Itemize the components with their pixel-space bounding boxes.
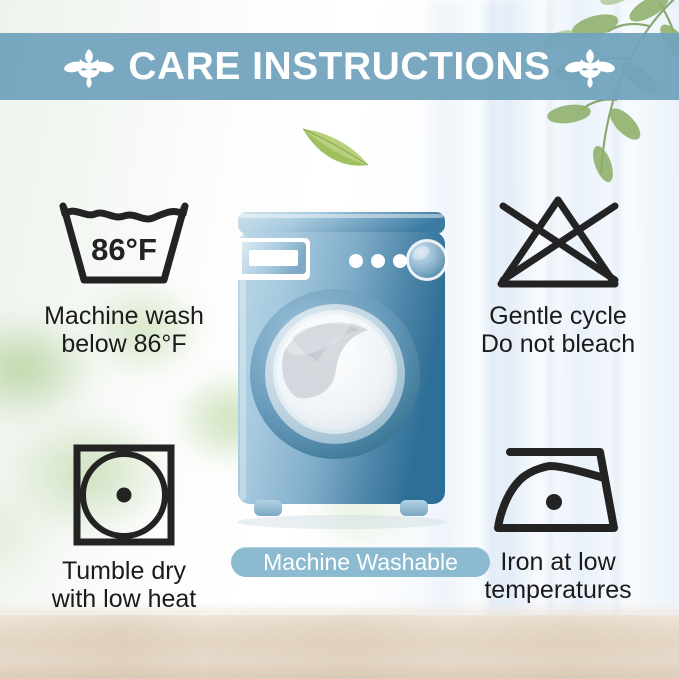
wooden-table-surface — [0, 615, 679, 679]
tumble-dry-low-icon — [69, 442, 179, 547]
instruction-caption: Gentle cycle Do not bleach — [481, 302, 635, 358]
care-instructions-infographic: CARE INSTRUCTIONS — [0, 0, 679, 679]
fleur-de-lis-icon — [565, 45, 615, 89]
header-banner: CARE INSTRUCTIONS — [0, 33, 679, 100]
triangle-crossed-out-icon — [487, 192, 629, 292]
table-grain — [0, 615, 679, 679]
instruction-machine-wash: 86°F Machine wash below 86°F — [18, 192, 230, 358]
instruction-caption: Iron at low temperatures — [484, 548, 631, 604]
wash-tub-icon: 86°F — [53, 192, 195, 292]
instruction-tumble-dry: Tumble dry with low heat — [18, 442, 230, 613]
machine-washable-label: Machine Washable — [263, 551, 458, 574]
wash-temperature-label: 86°F — [91, 232, 157, 267]
leaf-icon — [298, 120, 374, 174]
instruction-iron-low: Iron at low temperatures — [452, 442, 664, 604]
iron-one-dot-icon — [488, 442, 628, 538]
instruction-caption: Tumble dry with low heat — [52, 557, 197, 613]
instruction-do-not-bleach: Gentle cycle Do not bleach — [452, 192, 664, 358]
fleur-de-lis-icon — [64, 45, 114, 89]
page-title: CARE INSTRUCTIONS — [128, 47, 550, 86]
instruction-caption: Machine wash below 86°F — [44, 302, 204, 358]
washing-machine-illustration — [232, 212, 451, 534]
